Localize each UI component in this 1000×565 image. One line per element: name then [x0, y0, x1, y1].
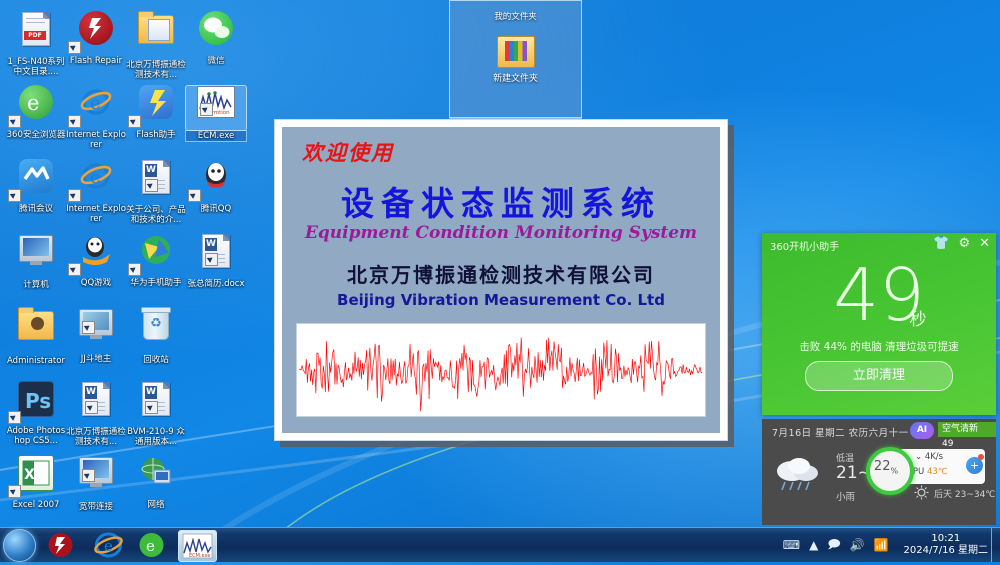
start-button[interactable] [3, 529, 36, 562]
word-file-icon: W [142, 160, 170, 194]
tencent-meeting-icon [19, 159, 53, 193]
network-icon [139, 455, 173, 489]
sun-icon [914, 485, 929, 500]
desktop-icon[interactable]: PDF1_FS-N40系列中文目录.... [6, 6, 66, 77]
wechat-icon [199, 11, 233, 45]
desktop-icon[interactable]: bvmtionECM.exe [186, 80, 246, 141]
taskbar-item-ecm[interactable]: ECM.exe [178, 530, 217, 562]
keyboard-icon[interactable]: ⌨ [783, 538, 800, 552]
svg-text:e: e [146, 537, 155, 555]
user-folder-icon [18, 311, 54, 340]
desktop-icon[interactable]: 华为手机助手 [126, 228, 186, 288]
qq-game-icon [79, 233, 113, 267]
desktop-icon-label: ECM.exe [186, 131, 246, 141]
desktop-icon-label: Adobe Photoshop CS5... [6, 426, 66, 446]
download-arrow-icon: ⌄ [915, 452, 922, 462]
folder-overlay-item-label: 新建文件夹 [450, 71, 581, 84]
jj-game-icon [79, 309, 113, 336]
boot-description: 击败 44% 的电脑 清理垃圾可提速 [762, 339, 996, 354]
word-file-icon: W [142, 382, 170, 416]
desktop-icon[interactable]: eInternet Explorer [66, 154, 126, 224]
svg-text:ECM.exe: ECM.exe [189, 553, 210, 559]
widget-titlebar-icons: 👕 ⚙ ✕ [933, 236, 990, 251]
360-browser-icon: e [133, 530, 170, 560]
desktop-icon-label: Internet Explorer [66, 204, 126, 224]
desktop-icon[interactable]: 回收站 [126, 302, 186, 365]
system-title-cn: 设备状态监测系统 [282, 177, 720, 225]
show-desktop-button[interactable] [991, 528, 1000, 562]
folder-overlay-window[interactable]: 我的文件夹 新建文件夹 [449, 0, 582, 118]
network-speed-value: 4K/s [925, 452, 943, 462]
folder-icon [138, 15, 174, 44]
taskbar-item-ie[interactable]: e [90, 530, 127, 560]
desktop-icon[interactable]: W关于公司、产品和技术的介... [126, 154, 186, 225]
weather-condition: 小雨 [836, 489, 855, 503]
desktop-icon[interactable]: 北京万博振通检测技术有... [126, 6, 186, 80]
clock[interactable]: 10:21 2024/7/16 星期二 [898, 533, 994, 557]
desktop-icon-label: 微信 [186, 56, 246, 66]
desktop-icon[interactable]: e360安全浏览器 [6, 80, 66, 140]
360-browser-icon: e [19, 85, 53, 119]
ai-badge[interactable]: AI [910, 422, 934, 439]
folder-icon [497, 36, 535, 68]
cpu-percent-unit: % [890, 467, 898, 476]
360-boot-assistant-widget[interactable]: 360开机小助手 👕 ⚙ ✕ 49 秒 击败 44% 的电脑 清理垃圾可提速 立… [762, 233, 996, 415]
flash-icon [42, 530, 79, 560]
splash-body: 欢迎使用 设备状态监测系统 Equipment Condition Monito… [282, 127, 720, 433]
boot-time-value: 49 [762, 259, 996, 331]
desktop-icon-label: 张总简历.docx [186, 279, 246, 289]
desktop-icon-label: Excel 2007 [6, 500, 66, 510]
desktop-icon[interactable]: 腾讯QQ [186, 154, 246, 214]
word-file-icon: W [82, 382, 110, 416]
desktop-icon-label: 1_FS-N40系列中文目录.... [6, 57, 66, 77]
weather-date: 7月16日 星期二 农历六月十一 [772, 425, 909, 439]
internet-explorer-icon: e [79, 85, 113, 119]
broadband-connection-icon [79, 457, 113, 484]
flash-icon [79, 11, 113, 45]
air-quality-badge: 空气清新 49 [938, 422, 996, 437]
desktop-icon-label: Administrator [6, 356, 66, 366]
desktop-icon-label: Flash助手 [126, 130, 186, 140]
folder-overlay-item[interactable]: 新建文件夹 [450, 36, 581, 84]
desktop-icon[interactable]: Flash Repair [66, 6, 126, 66]
cpu-usage-value: 22% [866, 447, 906, 487]
vibration-waveform [297, 324, 705, 416]
desktop-icon-label: 华为手机助手 [126, 278, 186, 288]
svg-text:e: e [104, 537, 113, 555]
welcome-text: 欢迎使用 [302, 137, 394, 167]
desktop-icon-label: 360安全浏览器 [6, 130, 66, 140]
gear-icon[interactable]: ⚙ [958, 236, 970, 251]
taskbar-item-flash[interactable] [42, 530, 79, 560]
desktop-icon-label: 北京万博振通检测技术有... [66, 427, 126, 447]
taskbar: e e ECM.exe ⌨ ▲ 🗩 🔊 📶 10:21 2024/7/16 星期… [0, 527, 1000, 562]
widget-title: 360开机小助手 [770, 238, 839, 253]
pdf-file-icon: PDF [22, 12, 50, 46]
system-tray: ⌨ ▲ 🗩 🔊 📶 10:21 2024/7/16 星期二 [783, 528, 1000, 562]
svg-text:Ps: Ps [25, 389, 51, 413]
desktop-icon-label: BVM-210-9 众通用版本... [126, 427, 186, 447]
volume-icon[interactable]: 🔊 [850, 538, 865, 552]
desktop-icon-label: 网络 [126, 500, 186, 510]
rain-cloud-icon [770, 451, 828, 497]
network-icon[interactable]: 📶 [874, 538, 889, 552]
ecm-waveform-icon: ECM.exe [179, 531, 216, 561]
clock-time: 10:21 [904, 533, 988, 545]
desktop-icon[interactable]: 计算机 [6, 228, 66, 290]
folder-overlay-title: 我的文件夹 [450, 10, 581, 22]
notification-dot [978, 454, 984, 460]
cpu-temp-value: 43℃ [927, 467, 947, 477]
desktop-icon[interactable]: WBVM-210-9 众通用版本... [126, 376, 186, 447]
qq-icon [199, 159, 233, 193]
recycle-bin-icon [143, 310, 169, 340]
desktop-icon[interactable]: XExcel 2007 [6, 450, 66, 510]
desktop-icon-label: QQ游戏 [66, 278, 126, 288]
desktop-icon-label: 腾讯QQ [186, 204, 246, 214]
desktop-icon-label: Flash Repair [66, 56, 126, 66]
company-name-en: Beijing Vibration Measurement Co. Ltd [282, 291, 720, 309]
desktop-icon[interactable]: 宽带连接 [66, 450, 126, 512]
splash-window[interactable]: 欢迎使用 设备状态监测系统 Equipment Condition Monito… [274, 119, 728, 441]
photoshop-icon: Ps [18, 381, 54, 417]
clock-date: 2024/7/16 星期二 [904, 545, 988, 557]
company-name-cn: 北京万博振通检测技术有限公司 [282, 259, 720, 288]
desktop-icon-label: 腾讯会议 [6, 204, 66, 214]
desktop-icon[interactable]: Administrator [6, 302, 66, 366]
desktop-icon-label: 北京万博振通检测技术有... [126, 60, 186, 80]
vibration-waveform-panel [296, 323, 706, 417]
excel-icon: X [18, 455, 54, 491]
svg-text:e: e [90, 93, 101, 114]
desktop-icon[interactable]: 腾讯会议 [6, 154, 66, 214]
desktop-icon-label: 关于公司、产品和技术的介... [126, 205, 186, 225]
desktop-icon[interactable]: eInternet Explorer [66, 80, 126, 150]
flash-helper-icon [139, 85, 173, 119]
desktop-icon-label: 宽带连接 [66, 502, 126, 512]
huawei-assistant-icon [139, 233, 173, 267]
ecm-waveform-icon: bvmtion [197, 86, 235, 118]
desktop-icon[interactable]: JJ斗地主 [66, 302, 126, 364]
svg-text:e: e [90, 167, 101, 188]
desktop-icon[interactable]: W北京万博振通检测技术有... [66, 376, 126, 447]
system-monitor-float-ball[interactable]: ⌄ 4K/s CPU 43℃ + 22% [866, 447, 996, 487]
system-title-en: Equipment Condition Monitoring System [282, 223, 720, 243]
word-file-icon: W [202, 234, 230, 268]
desktop-icon[interactable]: Flash助手 [126, 80, 186, 140]
desktop-icon-label: 回收站 [126, 355, 186, 365]
close-icon[interactable]: ✕ [979, 236, 990, 251]
taskbar-item-360browser[interactable]: e [133, 530, 170, 560]
desktop-icon[interactable]: QQ游戏 [66, 228, 126, 288]
svg-text:X: X [24, 467, 35, 483]
shirt-icon[interactable]: 👕 [933, 236, 949, 251]
desktop-icon-label: Internet Explorer [66, 130, 126, 150]
desktop-icon-label: JJ斗地主 [66, 354, 126, 364]
clean-now-button[interactable]: 立即清理 [805, 361, 953, 391]
desktop-icon-label: 计算机 [6, 280, 66, 290]
desktop-icon[interactable]: 微信 [186, 6, 246, 66]
svg-text:e: e [27, 91, 39, 115]
computer-icon [19, 235, 53, 262]
network-speed: ⌄ 4K/s [915, 452, 943, 462]
action-center-icon[interactable]: 🗩 [827, 535, 840, 556]
desktop-icon[interactable]: 网络 [126, 450, 186, 510]
internet-explorer-icon: e [90, 530, 127, 560]
desktop-icon[interactable]: W张总简历.docx [186, 228, 246, 289]
weather-forecast-after-tomorrow: 后天 23~34℃ [934, 487, 995, 500]
desktop-icon[interactable]: PsAdobe Photoshop CS5... [6, 376, 66, 446]
boot-time-unit: 秒 [909, 305, 926, 330]
show-hidden-icons-icon[interactable]: ▲ [809, 538, 818, 552]
internet-explorer-icon: e [79, 159, 113, 193]
cpu-percent-number: 22 [874, 459, 891, 474]
